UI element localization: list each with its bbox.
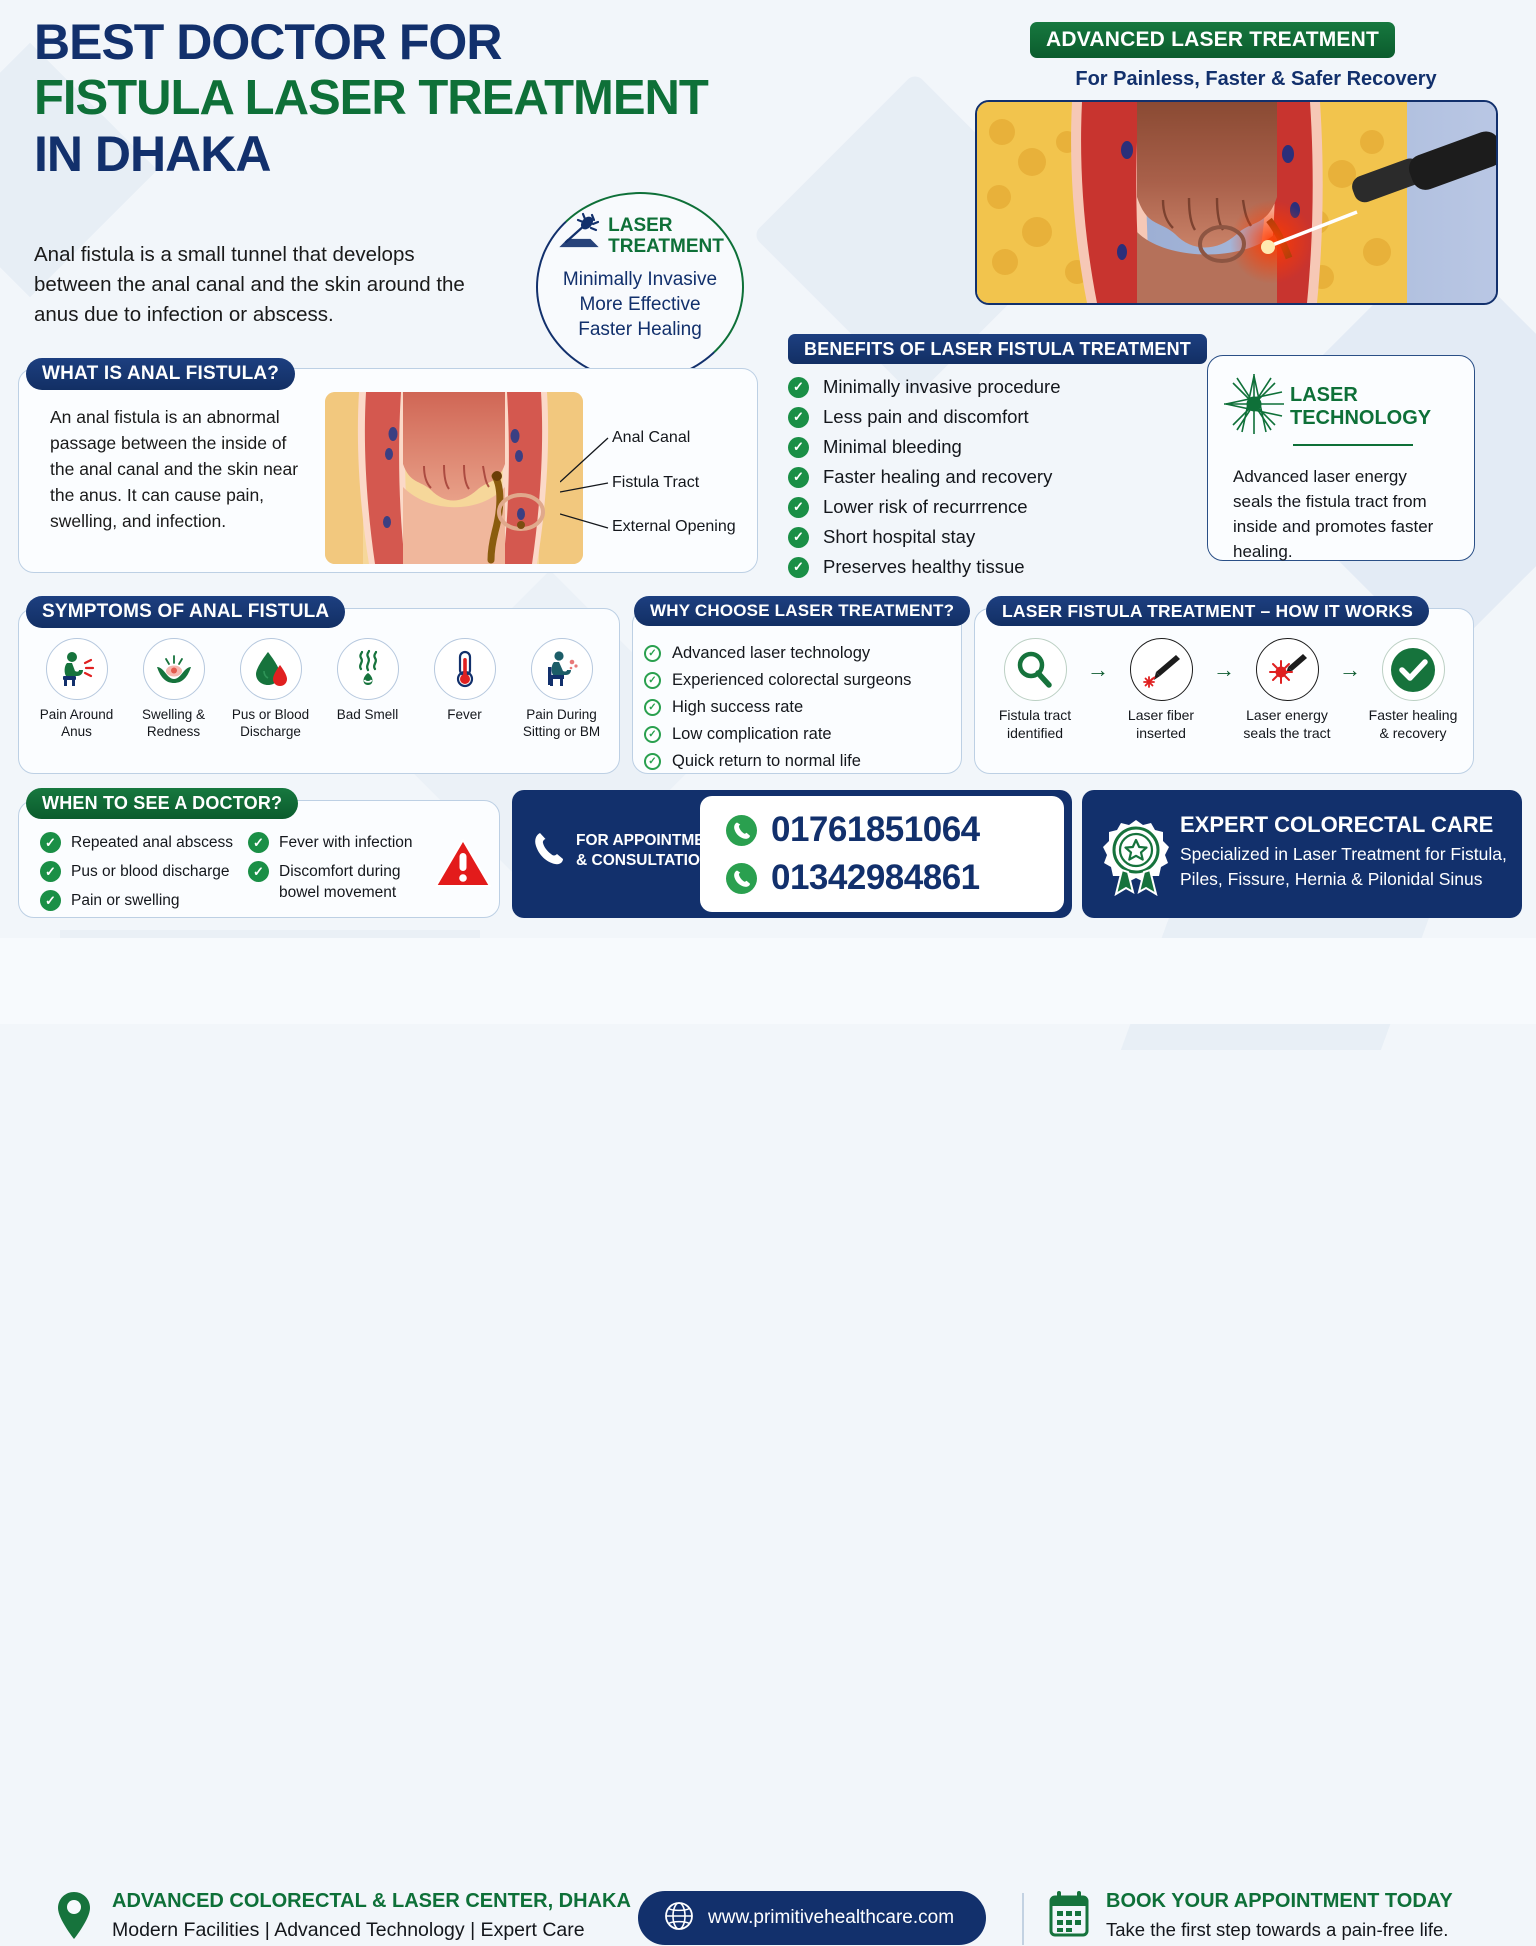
laser-burst-icon — [1222, 372, 1286, 441]
why-choose-item: ✓High success rate — [644, 694, 954, 721]
check-circle-outline-icon: ✓ — [644, 753, 661, 770]
laser-badge-point-1: Minimally Invasive — [563, 267, 717, 292]
why-choose-item: ✓Quick return to normal life — [644, 748, 954, 775]
benefit-item: ✓Minimal bleeding — [788, 432, 1188, 462]
label-fistula-tract: Fistula Tract — [612, 474, 699, 492]
why-choose-list: ✓Advanced laser technology ✓Experienced … — [644, 640, 954, 775]
check-icon: ✓ — [40, 832, 61, 853]
symptom-item-pain-sitting: Pain DuringSitting or BM — [513, 638, 610, 740]
phone-numbers-card: 01761851064 01342984861 — [700, 796, 1064, 912]
location-pin-icon — [56, 1891, 92, 1946]
hero-subtitle: For Painless, Faster & Safer Recovery — [1046, 68, 1466, 91]
what-is-fistula-body: An anal fistula is an abnormal passage b… — [50, 404, 315, 534]
book-appointment-title: BOOK YOUR APPOINTMENT TODAY — [1106, 1890, 1453, 1913]
symptom-item-pus-blood-discharge: Pus or BloodDischarge — [222, 638, 319, 740]
laser-badge-point-2: More Effective — [563, 292, 717, 317]
check-circle-outline-icon: ✓ — [644, 726, 661, 743]
person-sitting-pain-icon — [46, 638, 108, 700]
phone-number-2: 01342984861 — [771, 858, 980, 898]
phone-handset-icon — [532, 830, 564, 871]
fistula-anatomy-illustration — [325, 392, 583, 564]
benefits-list: ✓Minimally invasive procedure ✓Less pain… — [788, 372, 1188, 582]
symptoms-heading: SYMPTOMS OF ANAL FISTULA — [26, 596, 345, 628]
calendar-icon — [1048, 1890, 1090, 1943]
warning-sign-item: ✓Pain or swelling — [40, 890, 240, 911]
swelling-redness-icon — [143, 638, 205, 700]
warning-sign-item: ✓Repeated anal abscess — [40, 832, 240, 853]
book-appointment-subtitle: Take the first step towards a pain-free … — [1106, 1919, 1448, 1941]
warning-sign-item: ✓Discomfort during bowel movement — [248, 861, 438, 903]
check-circle-icon — [1382, 638, 1445, 701]
clinic-tagline: Modern Facilities | Advanced Technology … — [112, 1919, 585, 1942]
label-external-opening: External Opening — [612, 518, 736, 536]
website-pill[interactable]: www.primitivehealthcare.com — [638, 1891, 986, 1945]
blood-pus-drop-icon — [240, 638, 302, 700]
why-choose-item: ✓Advanced laser technology — [644, 640, 954, 667]
laser-badge-point-3: Faster Healing — [563, 317, 717, 342]
laser-technology-title: LASER TECHNOLOGY — [1290, 384, 1431, 430]
arrow-icon: → — [1210, 638, 1238, 701]
symptom-item-bad-smell: Bad Smell — [319, 638, 416, 740]
why-choose-item: ✓Experienced colorectal surgeons — [644, 667, 954, 694]
laser-technology-rule — [1293, 444, 1413, 446]
expert-care-title: EXPERT COLORECTAL CARE — [1180, 812, 1493, 838]
why-choose-item: ✓Low complication rate — [644, 721, 954, 748]
laser-treatment-badge: LASER TREATMENT Minimally Invasive More … — [536, 192, 744, 382]
symptom-item-fever: Fever — [416, 638, 513, 740]
laser-burst-seal-icon — [1256, 638, 1319, 701]
phone-icon — [726, 815, 757, 846]
check-icon: ✓ — [40, 890, 61, 911]
hero-anatomy-illustration — [975, 100, 1498, 305]
check-circle-outline-icon: ✓ — [644, 645, 661, 662]
globe-icon — [664, 1901, 694, 1936]
how-it-works-steps: Fistula tractidentified → Laser fiberins… — [986, 638, 1468, 742]
arrow-icon: → — [1084, 638, 1112, 701]
when-to-see-doctor-heading: WHEN TO SEE A DOCTOR? — [26, 788, 298, 819]
website-url: www.primitivehealthcare.com — [708, 1907, 954, 1929]
leader-lines — [560, 420, 615, 530]
appointment-label-line-2: & CONSULTATION — [576, 852, 711, 869]
benefit-item: ✓Minimally invasive procedure — [788, 372, 1188, 402]
laser-technology-header: LASER TECHNOLOGY — [1222, 372, 1431, 441]
check-icon: ✓ — [40, 861, 61, 882]
symptoms-list: Pain AroundAnus Swelling &Redness — [28, 638, 610, 740]
benefit-item: ✓Faster healing and recovery — [788, 462, 1188, 492]
symptom-item-swelling-redness: Swelling &Redness — [125, 638, 222, 740]
how-step-1: Fistula tractidentified — [986, 638, 1084, 742]
check-icon: ✓ — [788, 497, 809, 518]
bad-smell-icon — [337, 638, 399, 700]
symptom-item-pain-around-anus: Pain AroundAnus — [28, 638, 125, 740]
headline-line-2: FISTULA LASER TREATMENT — [34, 70, 954, 126]
check-icon: ✓ — [788, 407, 809, 428]
laser-pointer-icon — [556, 212, 602, 259]
appointment-label: FOR APPOINTMENT & CONSULTATION — [532, 830, 725, 871]
laser-badge-points: Minimally Invasive More Effective Faster… — [563, 267, 717, 342]
headline-line-3: IN DHAKA — [34, 126, 954, 182]
how-it-works-heading: LASER FISTULA TREATMENT – HOW IT WORKS — [986, 596, 1429, 626]
what-is-fistula-heading: WHAT IS ANAL FISTULA? — [26, 358, 295, 390]
benefits-heading: BENEFITS OF LASER FISTULA TREATMENT — [788, 334, 1207, 364]
how-step-3: Laser energyseals the tract — [1238, 638, 1336, 742]
label-anal-canal: Anal Canal — [612, 429, 690, 447]
infographic-page: BEST DOCTOR FOR FISTULA LASER TREATMENT … — [0, 0, 1536, 1024]
phone-number-1: 01761851064 — [771, 810, 980, 850]
clinic-name: ADVANCED COLORECTAL & LASER CENTER, DHAK… — [112, 1890, 631, 1913]
headline-line-1: BEST DOCTOR FOR — [34, 14, 954, 70]
when-to-see-doctor-column-1: ✓Repeated anal abscess ✓Pus or blood dis… — [40, 832, 240, 919]
laser-badge-title: LASER TREATMENT — [608, 215, 724, 257]
thermometer-icon — [434, 638, 496, 700]
advanced-laser-treatment-badge: ADVANCED LASER TREATMENT — [1030, 22, 1395, 58]
warning-sign-item: ✓Fever with infection — [248, 832, 438, 853]
laser-fiber-icon — [1130, 638, 1193, 701]
check-icon: ✓ — [788, 437, 809, 458]
award-ribbon-icon — [1100, 818, 1172, 903]
footer: ADVANCED COLORECTAL & LASER CENTER, DHAK… — [0, 938, 1536, 1024]
benefit-item: ✓Short hospital stay — [788, 522, 1188, 552]
phone-row-2[interactable]: 01342984861 — [726, 858, 1064, 898]
warning-sign-item: ✓Pus or blood discharge — [40, 861, 240, 882]
benefit-item: ✓Preserves healthy tissue — [788, 552, 1188, 582]
magnifier-icon — [1004, 638, 1067, 701]
warning-triangle-icon — [435, 838, 491, 893]
footer-divider — [1022, 1893, 1024, 1945]
check-circle-outline-icon: ✓ — [644, 699, 661, 716]
check-icon: ✓ — [788, 377, 809, 398]
phone-row-1[interactable]: 01761851064 — [726, 810, 1064, 850]
arrow-icon: → — [1336, 638, 1364, 701]
benefit-item: ✓Less pain and discomfort — [788, 402, 1188, 432]
check-icon: ✓ — [248, 832, 269, 853]
check-icon: ✓ — [788, 557, 809, 578]
check-circle-outline-icon: ✓ — [644, 672, 661, 689]
check-icon: ✓ — [248, 861, 269, 882]
check-icon: ✓ — [788, 527, 809, 548]
how-step-2: Laser fiberinserted — [1112, 638, 1210, 742]
person-seated-pain-icon — [531, 638, 593, 700]
intro-paragraph: Anal fistula is a small tunnel that deve… — [34, 240, 484, 330]
laser-technology-body: Advanced laser energy seals the fistula … — [1233, 464, 1448, 564]
when-to-see-doctor-column-2: ✓Fever with infection ✓Discomfort during… — [248, 832, 438, 911]
phone-icon — [726, 863, 757, 894]
benefit-item: ✓Lower risk of recurrrence — [788, 492, 1188, 522]
how-step-4: Faster healing& recovery — [1364, 638, 1462, 742]
check-icon: ✓ — [788, 467, 809, 488]
expert-care-body: Specialized in Laser Treatment for Fistu… — [1180, 842, 1510, 892]
why-choose-heading: WHY CHOOSE LASER TREATMENT? — [634, 596, 970, 626]
page-title: BEST DOCTOR FOR FISTULA LASER TREATMENT … — [34, 14, 954, 182]
